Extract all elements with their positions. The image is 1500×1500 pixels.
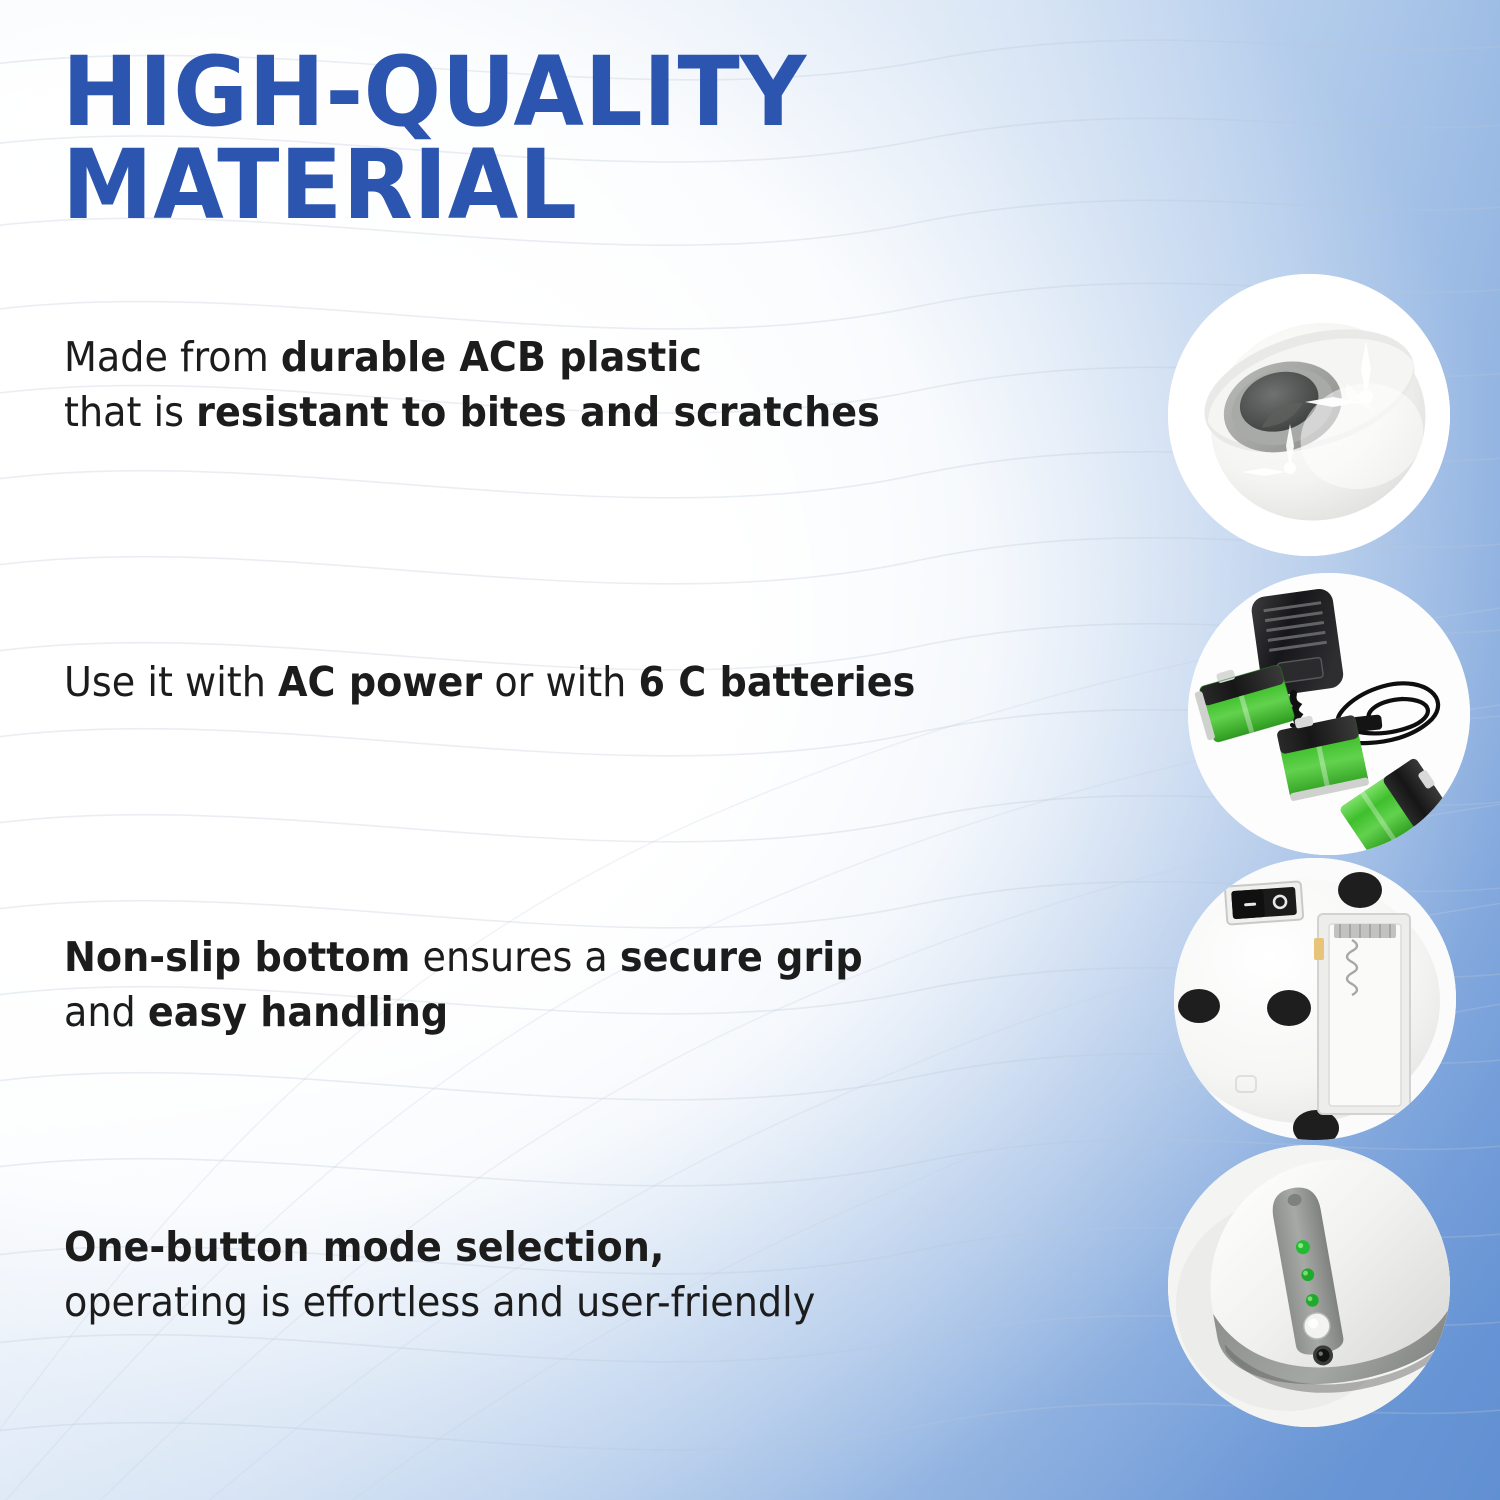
page-title: HIGH-QUALITY MATERIAL bbox=[62, 46, 1012, 232]
feature-text-power-options: Use it with AC power or with 6 C batteri… bbox=[64, 655, 1003, 710]
feature-text-non-slip-bottom: Non-slip bottom ensures a secure gripand… bbox=[64, 930, 1003, 1039]
product-dome-top-photo bbox=[1168, 274, 1450, 556]
feature-text-durable-material: Made from durable ACB plasticthat is res… bbox=[64, 330, 1003, 439]
control-panel-photo bbox=[1168, 1145, 1450, 1427]
infographic-canvas: HIGH-QUALITY MATERIAL Made from durable … bbox=[0, 0, 1500, 1500]
feature-text-one-button-mode: One-button mode selection,operating is e… bbox=[64, 1220, 1003, 1329]
feature-list: Made from durable ACB plasticthat is res… bbox=[64, 330, 1074, 1440]
text-column: HIGH-QUALITY MATERIAL Made from durable … bbox=[0, 0, 1120, 1500]
device-underside-photo bbox=[1174, 858, 1456, 1140]
power-adapter-and-batteries-photo bbox=[1188, 573, 1470, 855]
